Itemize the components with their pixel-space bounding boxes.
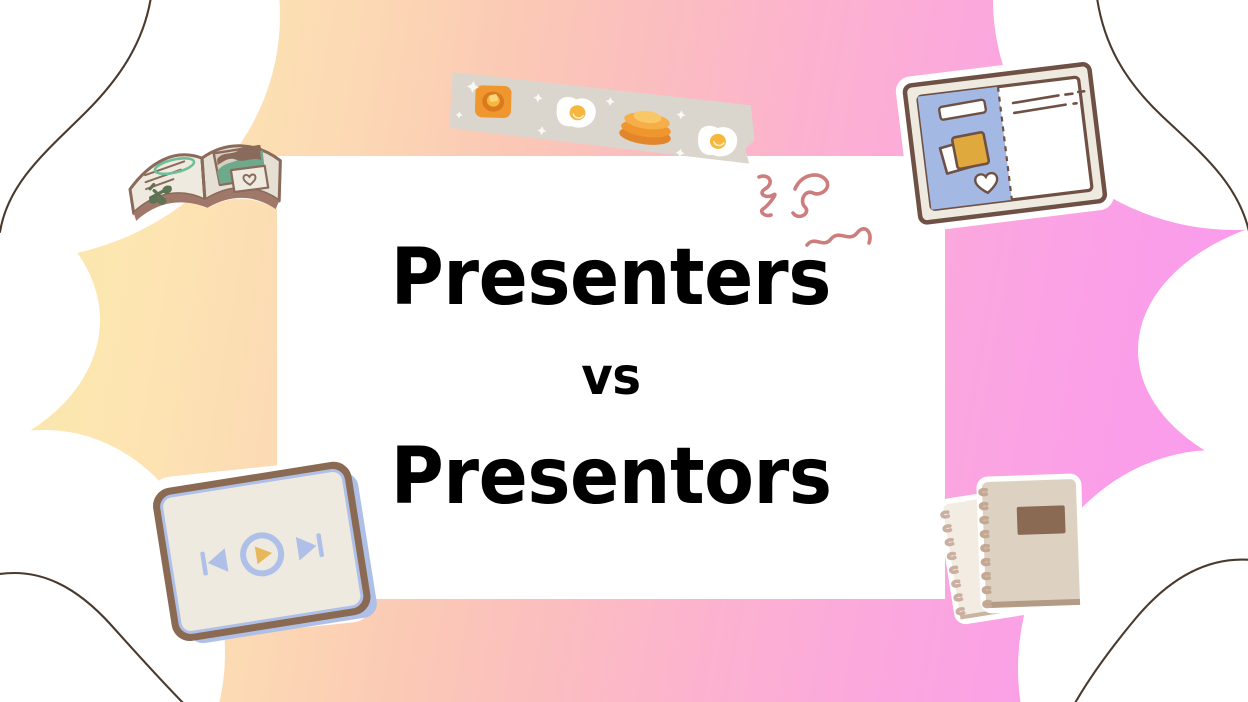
spiral-notebooks-icon [936,463,1124,637]
title-line-presenters: Presenters [391,240,831,316]
title-line-presentors: Presentors [391,439,832,515]
slide-canvas: Presenters vs Presentors [0,0,1248,702]
open-book-icon [113,82,294,234]
title-block: Presenters vs Presentors [277,156,945,599]
title-line-vs: vs [581,352,640,403]
